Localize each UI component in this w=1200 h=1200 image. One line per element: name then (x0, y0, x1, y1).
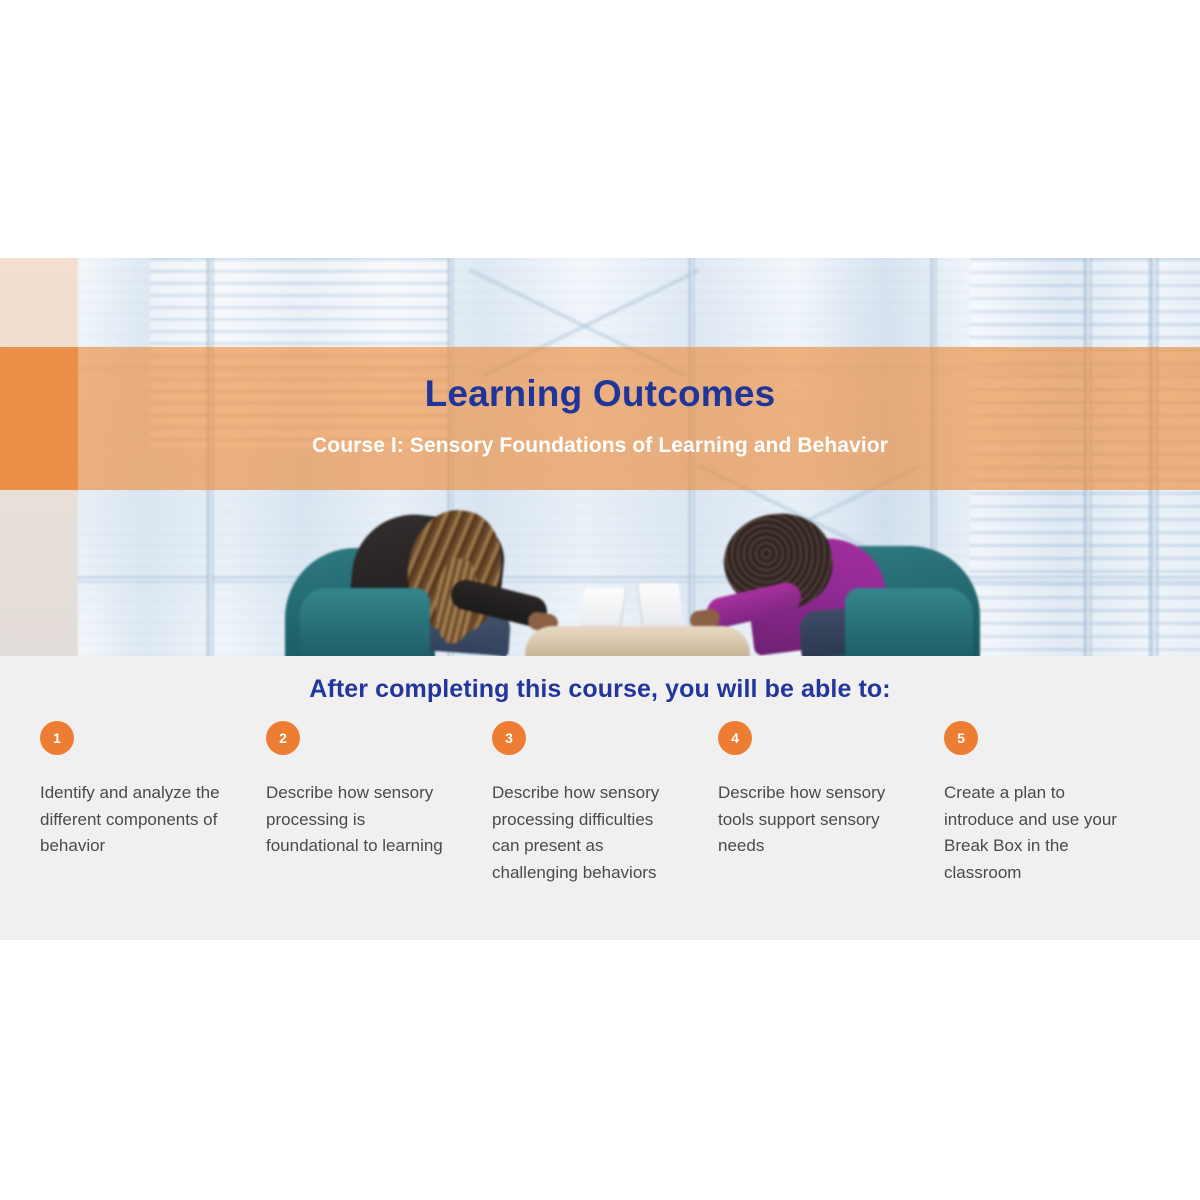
hero-orange-band-left-cap (0, 347, 78, 490)
outcome-number-badge: 2 (266, 721, 300, 755)
outcome-item-1: 1 Identify and analyze the different com… (40, 721, 266, 886)
outcome-text: Describe how sensory processing is found… (266, 780, 454, 860)
course-subtitle: Course I: Sensory Foundations of Learnin… (0, 434, 1200, 458)
outcome-text: Describe how sensory tools support senso… (718, 780, 906, 860)
outcome-item-3: 3 Describe how sensory processing diffic… (492, 721, 718, 886)
outcome-number-badge: 3 (492, 721, 526, 755)
armchair-right-seat (845, 588, 973, 656)
outcome-item-2: 2 Describe how sensory processing is fou… (266, 721, 492, 886)
outcomes-panel: After completing this course, you will b… (0, 656, 1200, 940)
armchair-left-seat (300, 588, 430, 656)
outcome-number-badge: 5 (944, 721, 978, 755)
outcome-item-5: 5 Create a plan to introduce and use you… (944, 721, 1170, 886)
outcome-number-badge: 4 (718, 721, 752, 755)
page-title: Learning Outcomes (0, 373, 1200, 415)
outcome-text: Describe how sensory processing difficul… (492, 780, 680, 886)
round-table (525, 626, 750, 656)
outcome-text: Identify and analyze the different compo… (40, 780, 228, 860)
outcome-number-badge: 1 (40, 721, 74, 755)
hero-orange-band (0, 347, 1200, 490)
outcome-text: Create a plan to introduce and use your … (944, 780, 1132, 886)
window-transom-lower (78, 576, 1200, 583)
outcomes-list: 1 Identify and analyze the different com… (40, 721, 1170, 886)
outcome-item-4: 4 Describe how sensory tools support sen… (718, 721, 944, 886)
slide-canvas: Learning Outcomes Course I: Sensory Foun… (0, 0, 1200, 1200)
outcomes-heading: After completing this course, you will b… (0, 675, 1200, 704)
